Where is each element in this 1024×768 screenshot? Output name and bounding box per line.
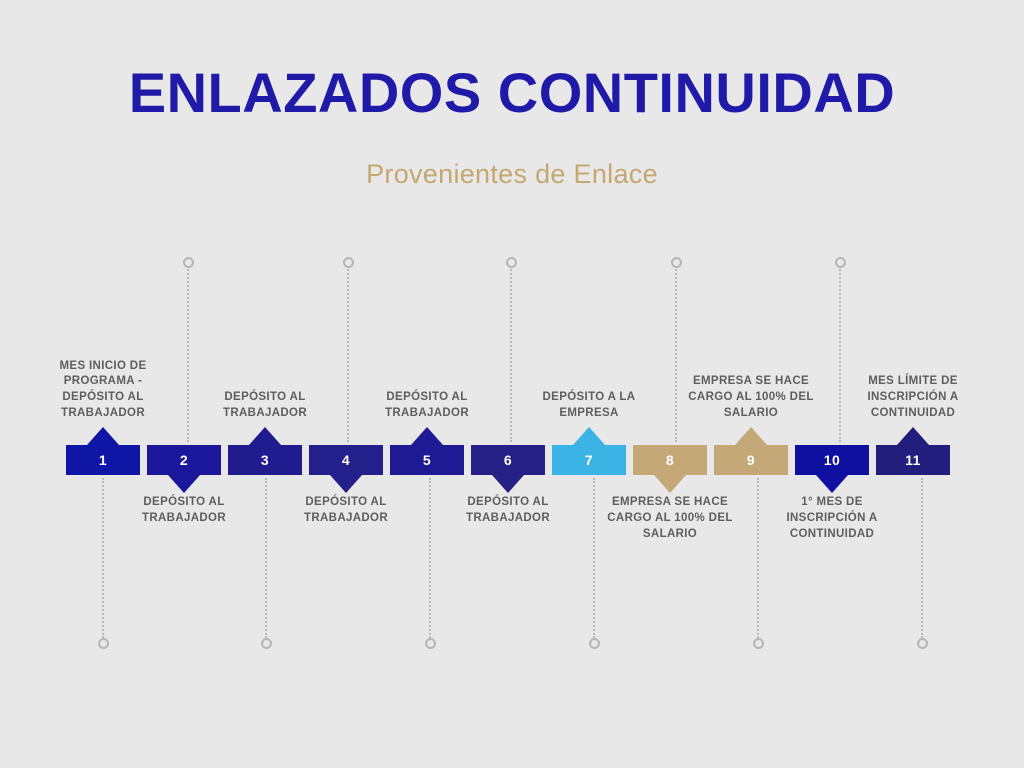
segment-arrow-down [330, 475, 362, 493]
timeline-segment-7[interactable]: 7 [552, 445, 626, 475]
segment-arrow-up [573, 427, 605, 445]
timeline-diagram: 1MES INICIO DE PROGRAMA - DEPÓSITO AL TR… [0, 0, 1024, 768]
connector-line-top [675, 266, 677, 442]
connector-ring-top [343, 257, 354, 268]
segment-label-6: DEPÓSITO AL TRABAJADOR [444, 495, 572, 527]
segment-body: 11 [876, 445, 950, 475]
segment-arrow-up [249, 427, 281, 445]
connector-ring-bottom [917, 638, 928, 649]
segment-label-9: EMPRESA SE HACE CARGO AL 100% DEL SALARI… [687, 374, 815, 422]
connector-ring-top [183, 257, 194, 268]
connector-ring-bottom [425, 638, 436, 649]
connector-line-bottom [593, 478, 595, 638]
connector-ring-top [835, 257, 846, 268]
segment-body: 5 [390, 445, 464, 475]
segment-number: 7 [585, 452, 593, 468]
segment-body: 2 [147, 445, 221, 475]
connector-ring-top [506, 257, 517, 268]
segment-body: 1 [66, 445, 140, 475]
segment-number: 5 [423, 452, 431, 468]
segment-arrow-up [411, 427, 443, 445]
connector-ring-bottom [753, 638, 764, 649]
segment-body: 3 [228, 445, 302, 475]
timeline-segment-6[interactable]: 6 [471, 445, 545, 475]
timeline-segment-3[interactable]: 3 [228, 445, 302, 475]
segment-number: 8 [666, 452, 674, 468]
segment-number: 3 [261, 452, 269, 468]
segment-arrow-up [897, 427, 929, 445]
segment-arrow-down [168, 475, 200, 493]
connector-ring-bottom [589, 638, 600, 649]
segment-arrow-down [654, 475, 686, 493]
segment-number: 11 [905, 452, 921, 468]
segment-body: 4 [309, 445, 383, 475]
connector-line-top [839, 266, 841, 442]
connector-line-bottom [757, 478, 759, 638]
connector-ring-top [671, 257, 682, 268]
segment-label-5: DEPÓSITO AL TRABAJADOR [363, 390, 491, 422]
connector-ring-bottom [261, 638, 272, 649]
connector-line-bottom [102, 478, 104, 638]
segment-label-3: DEPÓSITO AL TRABAJADOR [201, 390, 329, 422]
segment-body: 10 [795, 445, 869, 475]
segment-label-11: MES LÍMITE DE INSCRIPCIÓN A CONTINUIDAD [849, 374, 977, 422]
segment-number: 1 [99, 452, 107, 468]
segment-label-7: DEPÓSITO A LA EMPRESA [525, 390, 653, 422]
segment-number: 10 [824, 452, 841, 468]
connector-line-top [347, 266, 349, 442]
timeline-segment-10[interactable]: 10 [795, 445, 869, 475]
timeline-segment-1[interactable]: 1 [66, 445, 140, 475]
segment-body: 6 [471, 445, 545, 475]
connector-line-bottom [921, 478, 923, 638]
connector-line-bottom [265, 478, 267, 638]
connector-line-bottom [429, 478, 431, 638]
timeline-segment-2[interactable]: 2 [147, 445, 221, 475]
segment-body: 9 [714, 445, 788, 475]
timeline-segment-4[interactable]: 4 [309, 445, 383, 475]
connector-line-top [187, 266, 189, 442]
timeline-segment-8[interactable]: 8 [633, 445, 707, 475]
segment-label-10: 1° MES DE INSCRIPCIÓN A CONTINUIDAD [768, 495, 896, 543]
segment-label-2: DEPÓSITO AL TRABAJADOR [120, 495, 248, 527]
segment-body: 7 [552, 445, 626, 475]
segment-number: 9 [747, 452, 755, 468]
segment-label-1: MES INICIO DE PROGRAMA - DEPÓSITO AL TRA… [39, 359, 167, 422]
segment-arrow-down [492, 475, 524, 493]
segment-body: 8 [633, 445, 707, 475]
segment-number: 6 [504, 452, 512, 468]
segment-number: 4 [342, 452, 350, 468]
timeline-segment-9[interactable]: 9 [714, 445, 788, 475]
segment-number: 2 [180, 452, 188, 468]
timeline-segment-11[interactable]: 11 [876, 445, 950, 475]
connector-line-top [510, 266, 512, 442]
segment-arrow-down [816, 475, 848, 493]
connector-ring-bottom [98, 638, 109, 649]
timeline-segment-5[interactable]: 5 [390, 445, 464, 475]
segment-arrow-up [735, 427, 767, 445]
segment-label-8: EMPRESA SE HACE CARGO AL 100% DEL SALARI… [606, 495, 734, 543]
segment-label-4: DEPÓSITO AL TRABAJADOR [282, 495, 410, 527]
segment-arrow-up [87, 427, 119, 445]
